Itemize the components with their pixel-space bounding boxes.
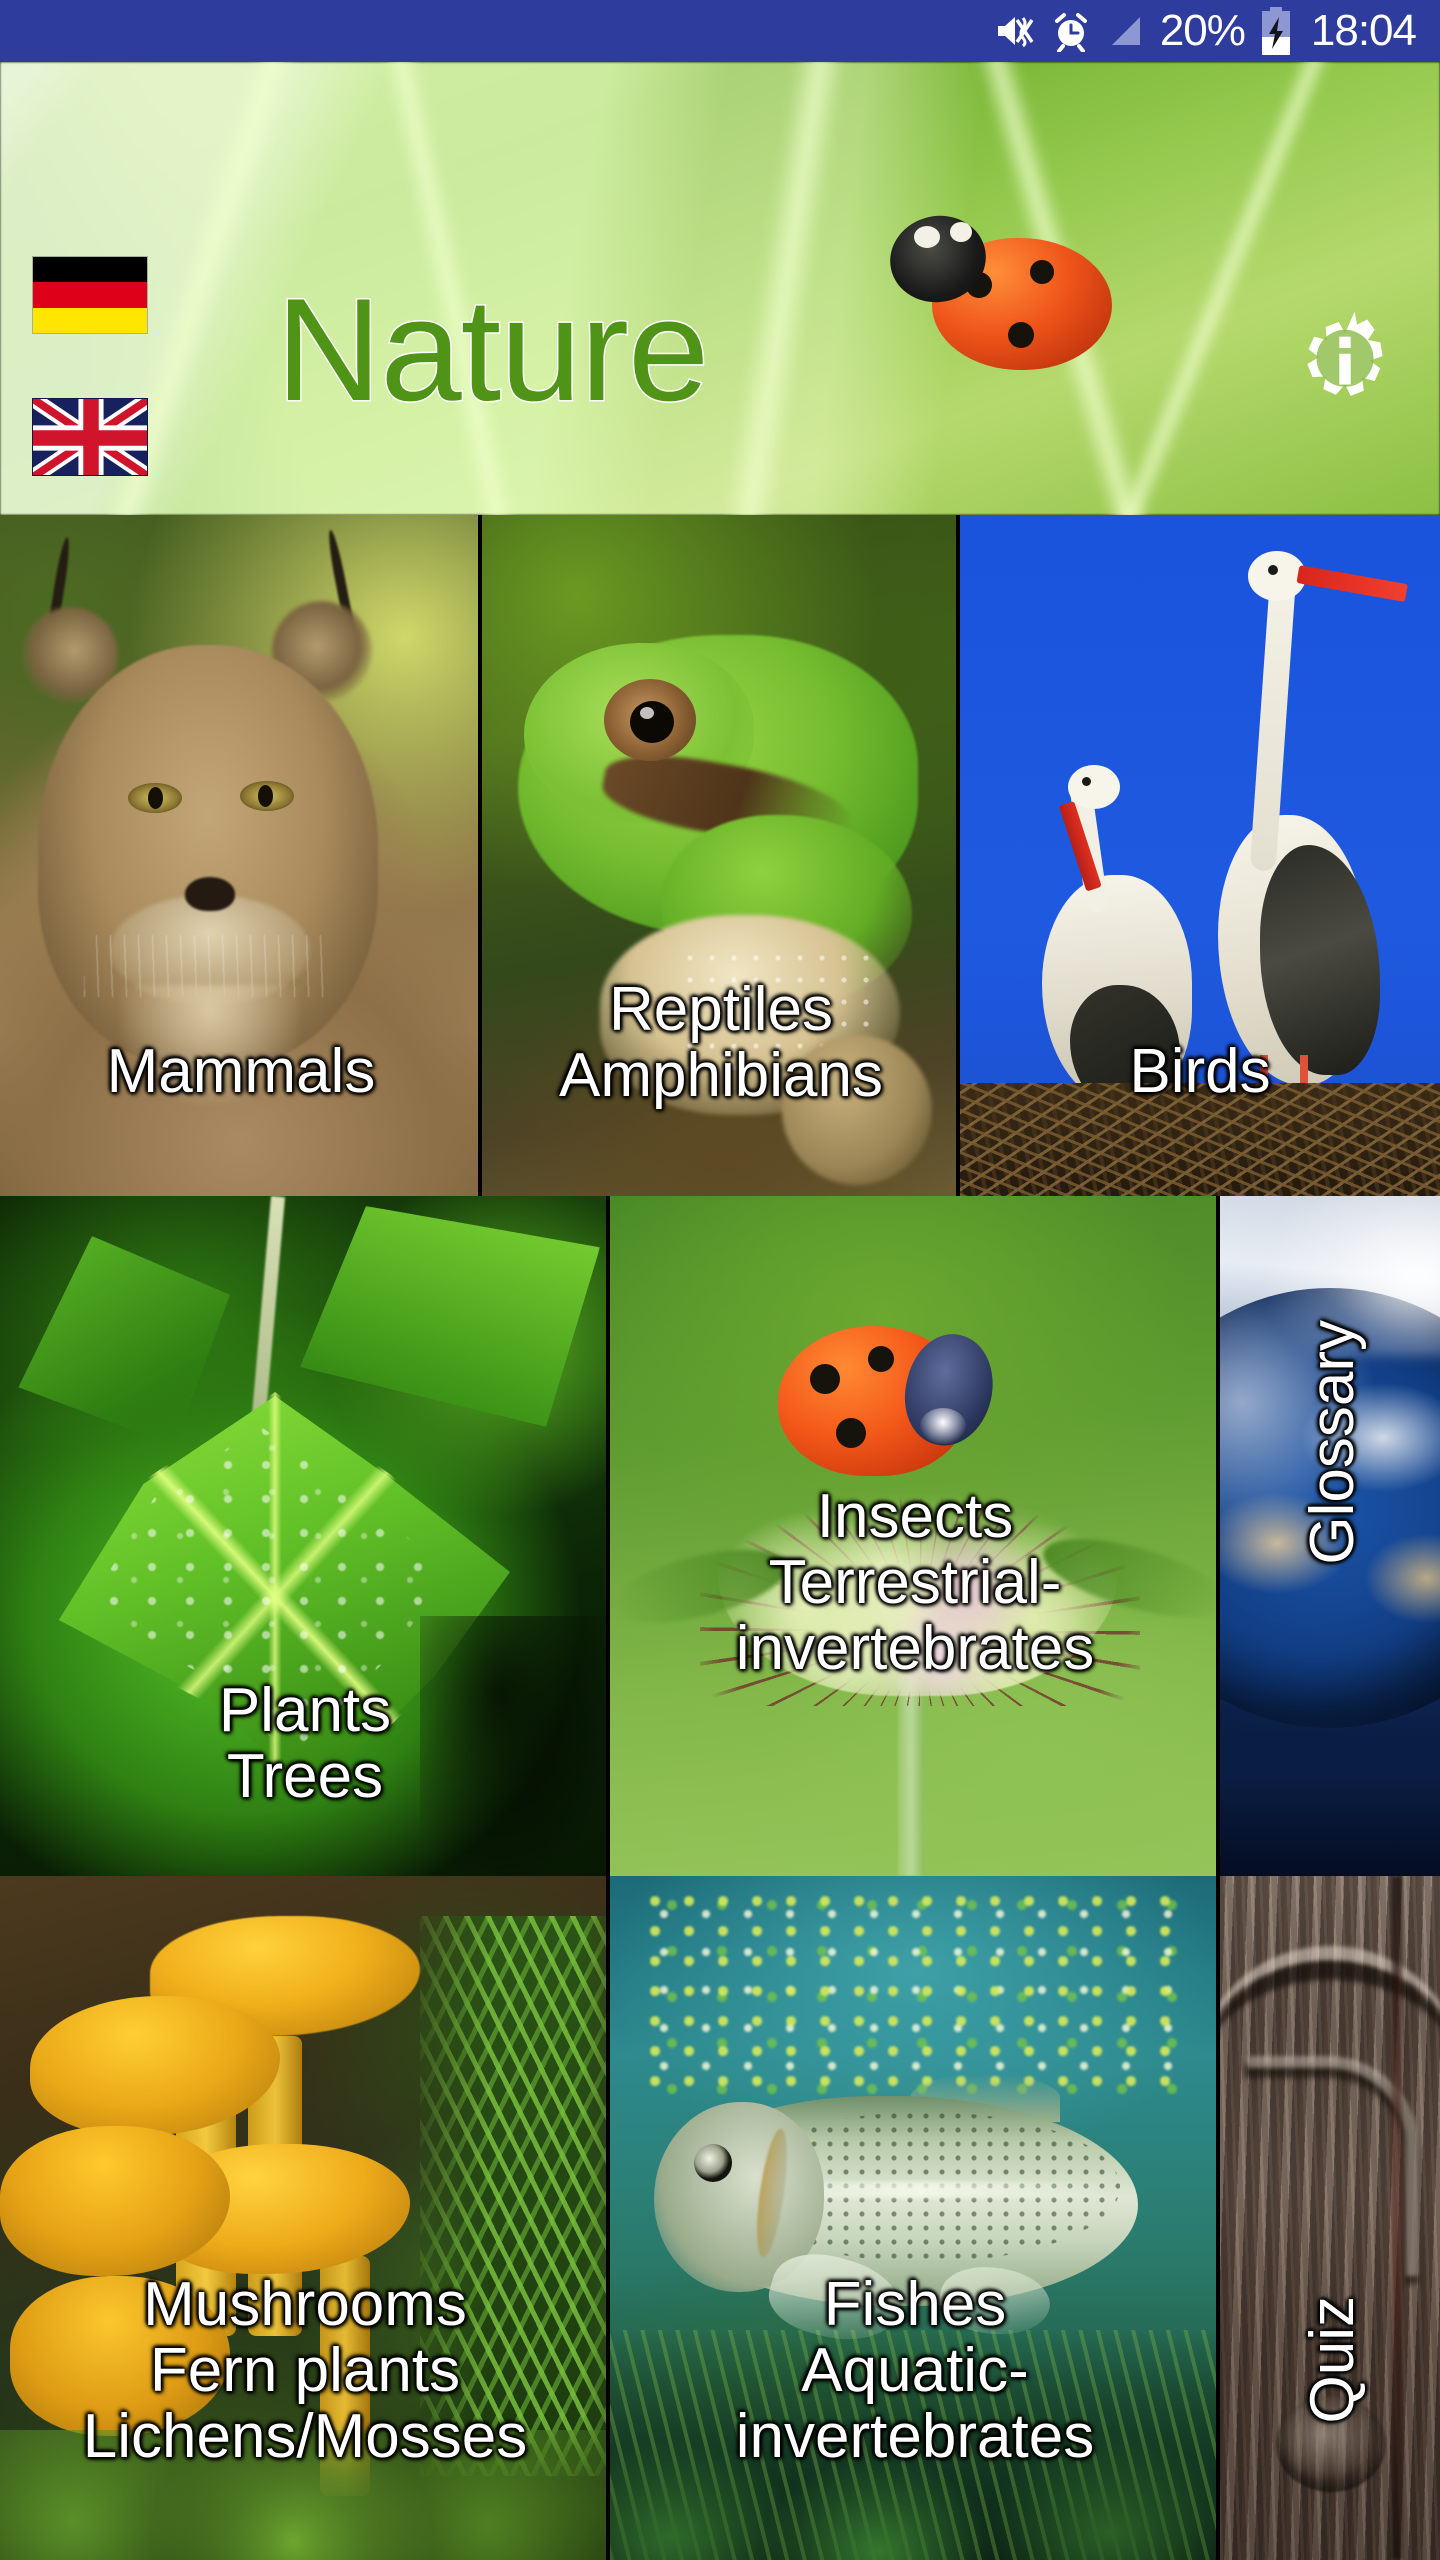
tile-label: invertebrates (610, 1616, 1220, 1682)
tile-label: Insects (610, 1484, 1220, 1550)
alarm-clock-icon (1050, 10, 1092, 52)
tile-label: Birds (960, 1039, 1440, 1105)
tile-label: Trees (0, 1744, 610, 1810)
grid-separator (1216, 1876, 1220, 2560)
info-settings-icon[interactable] (1288, 307, 1402, 421)
tile-label: Quiz (1294, 2296, 1372, 2423)
battery-charging-icon (1259, 7, 1293, 55)
tile-quiz[interactable]: Quiz (1220, 1876, 1440, 2560)
grid-separator (478, 515, 482, 1196)
grid-separator (606, 1876, 610, 2560)
tile-label: Fishes (610, 2272, 1220, 2338)
app-screen: 20% 18:04 (0, 0, 1440, 2560)
tile-mammals[interactable]: Mammals (0, 515, 482, 1196)
ladybug-photo (880, 182, 1130, 372)
tile-insects-invertebrates[interactable]: Insects Terrestrial- invertebrates (610, 1196, 1220, 1876)
grid-separator (956, 515, 960, 1196)
mute-vibrate-icon (994, 10, 1036, 52)
tile-label: Plants (0, 1678, 610, 1744)
clock-label: 18:04 (1311, 9, 1416, 53)
grid-separator (1216, 1196, 1220, 1876)
tile-birds[interactable]: Birds (960, 515, 1440, 1196)
status-bar: 20% 18:04 (0, 0, 1440, 62)
tile-label: Glossary (1294, 1320, 1372, 1565)
tile-label: Aquatic- (610, 2338, 1220, 2404)
battery-percent-label: 20% (1160, 9, 1245, 53)
tile-label: Mushrooms (0, 2272, 610, 2338)
tile-fishes-aquatic-invertebrates[interactable]: Fishes Aquatic- invertebrates (610, 1876, 1220, 2560)
signal-bars-icon (1106, 11, 1146, 51)
tree-bark-photo (1220, 1876, 1440, 2560)
uk-flag[interactable] (32, 398, 148, 476)
tile-label: Terrestrial- (610, 1550, 1220, 1616)
grid-separator (606, 1196, 610, 1876)
tile-mushrooms-ferns-lichens[interactable]: Mushrooms Fern plants Lichens/Mosses (0, 1876, 610, 2560)
app-header: Nature (0, 62, 1440, 515)
tile-label: Fern plants (0, 2338, 610, 2404)
tile-label: Amphibians (482, 1043, 960, 1109)
german-flag[interactable] (32, 256, 148, 334)
tile-label: invertebrates (610, 2404, 1220, 2470)
category-grid: Mammals Reptiles Amphibians (0, 515, 1440, 2560)
page-title: Nature (276, 277, 708, 423)
tile-glossary[interactable]: Glossary (1220, 1196, 1440, 1876)
tile-plants-trees[interactable]: Plants Trees (0, 1196, 610, 1876)
tile-label: Reptiles (482, 977, 960, 1043)
tile-label: Mammals (0, 1039, 482, 1105)
tile-reptiles-amphibians[interactable]: Reptiles Amphibians (482, 515, 960, 1196)
tile-label: Lichens/Mosses (0, 2404, 610, 2470)
